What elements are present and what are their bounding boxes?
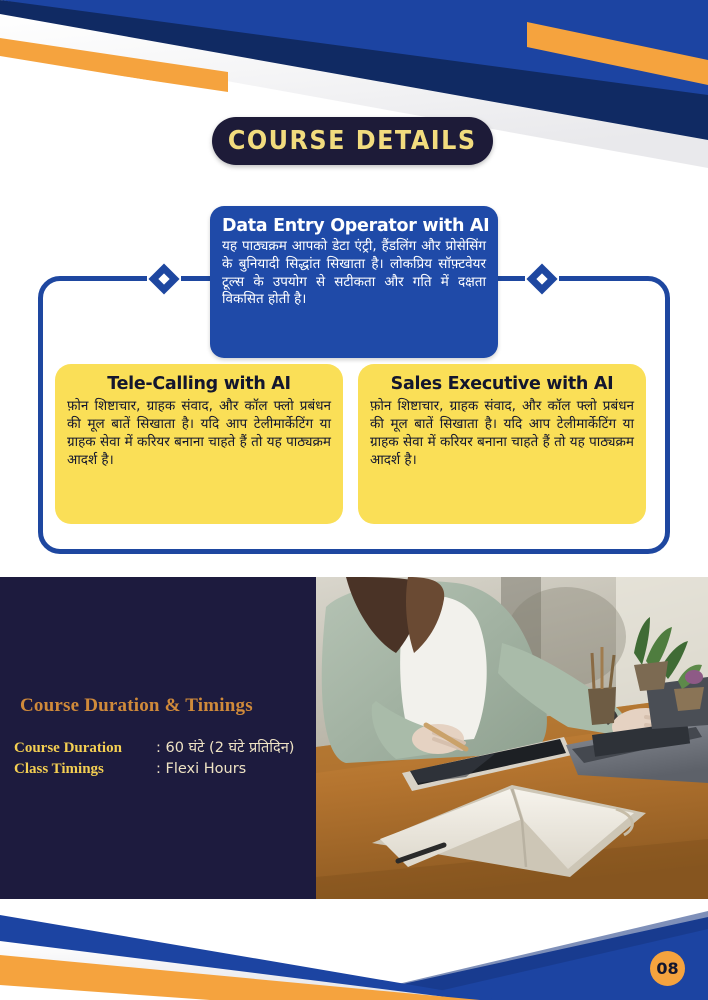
page-title-badge: COURSE DETAILS	[212, 117, 493, 165]
info-row: Course Duration : 60 घंटे (2 घंटे प्रतिद…	[14, 737, 314, 757]
course-card-description: फ़ोन शिष्टाचार, ग्राहक संवाद, और कॉल फ्ल…	[370, 397, 634, 469]
course-details-page: COURSE DETAILS Data Entry Operator with …	[0, 0, 708, 1000]
course-duration-rows: Course Duration : 60 घंटे (2 घंटे प्रतिद…	[14, 737, 314, 782]
workspace-photo	[316, 577, 708, 899]
course-card-title: Tele-Calling with AI	[67, 374, 331, 394]
info-value: : Flexi Hours	[156, 761, 246, 777]
course-card-title: Data Entry Operator with AI	[222, 216, 486, 236]
info-label: Class Timings	[14, 761, 156, 778]
course-duration-panel: Course Duration & Timings Course Duratio…	[0, 577, 316, 899]
info-value: : 60 घंटे (2 घंटे प्रतिदिन)	[156, 737, 294, 757]
page-number-badge: 08	[650, 951, 685, 986]
info-label: Course Duration	[14, 740, 156, 757]
course-duration-heading: Course Duration & Timings	[20, 695, 253, 717]
course-card-description: फ़ोन शिष्टाचार, ग्राहक संवाद, और कॉल फ्ल…	[67, 397, 331, 469]
page-number-text: 08	[656, 959, 678, 978]
course-card-description: यह पाठ्यक्रम आपको डेटा एंट्री, हैंडलिंग …	[222, 238, 486, 309]
top-decoration	[0, 0, 708, 200]
course-card-data-entry[interactable]: Data Entry Operator with AI यह पाठ्यक्रम…	[210, 206, 498, 358]
course-card-sales-executive[interactable]: Sales Executive with AI फ़ोन शिष्टाचार, …	[358, 364, 646, 524]
course-card-title: Sales Executive with AI	[370, 374, 634, 394]
bottom-decoration	[0, 899, 708, 1000]
info-row: Class Timings : Flexi Hours	[14, 761, 314, 778]
page-title: COURSE DETAILS	[228, 126, 477, 156]
course-card-tele-calling[interactable]: Tele-Calling with AI फ़ोन शिष्टाचार, ग्र…	[55, 364, 343, 524]
